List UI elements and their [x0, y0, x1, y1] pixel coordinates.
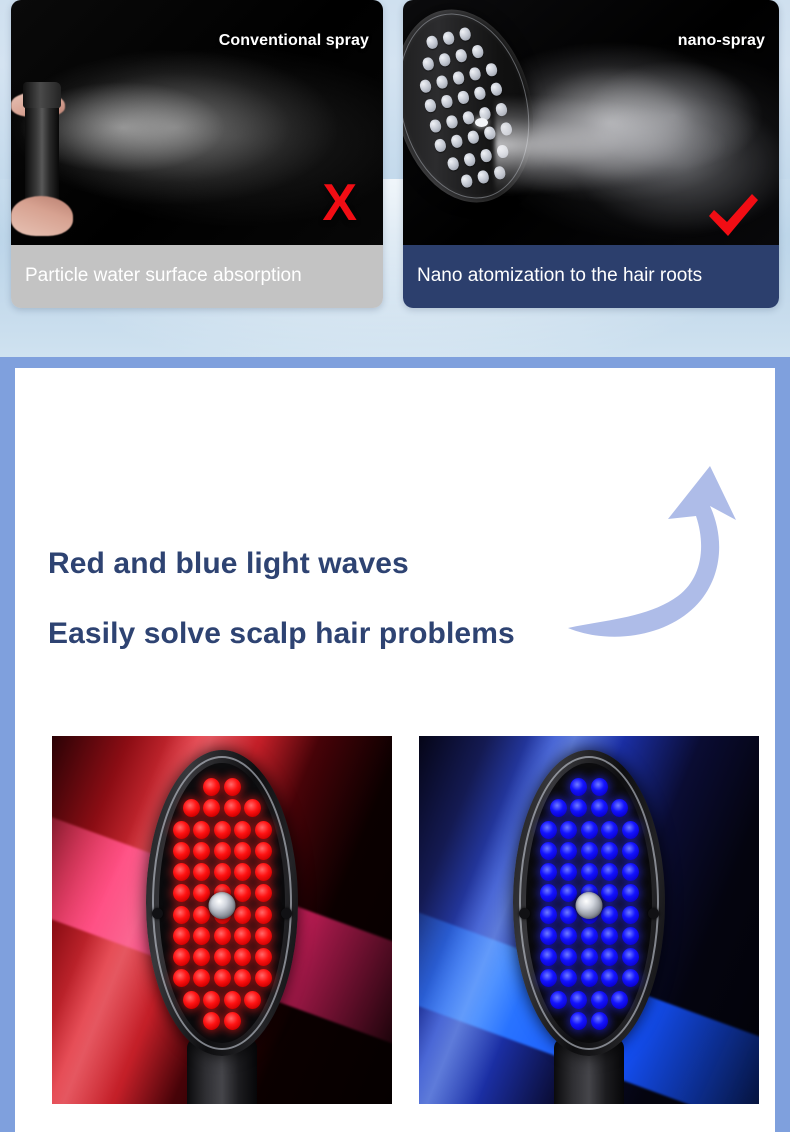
led-dot	[255, 842, 272, 860]
led-dot	[234, 821, 251, 839]
led-dot	[560, 842, 577, 860]
massage-pin	[468, 66, 482, 81]
led-dot	[601, 842, 618, 860]
led-dot	[622, 821, 639, 839]
red-check-icon	[705, 191, 761, 239]
massage-pin	[473, 86, 487, 101]
led-dot	[193, 842, 210, 860]
led-dot	[550, 991, 567, 1009]
led-dot	[255, 821, 272, 839]
led-dot	[601, 948, 618, 966]
led-dot	[214, 842, 231, 860]
led-dot	[560, 927, 577, 945]
led-dot	[601, 884, 618, 902]
led-dot	[540, 863, 557, 881]
led-dot	[234, 969, 251, 987]
led-dot	[244, 991, 261, 1009]
led-dot	[193, 863, 210, 881]
massage-pin	[456, 90, 470, 105]
conventional-spray-caption: Particle water surface absorption	[11, 245, 383, 308]
led-dot	[591, 991, 608, 1009]
massage-pin	[425, 35, 439, 50]
massage-pin	[440, 94, 454, 109]
blue-light-comb-device	[513, 750, 665, 1104]
led-dot	[560, 948, 577, 966]
headline-line-1: Red and blue light waves	[48, 547, 668, 581]
led-dot	[622, 927, 639, 945]
led-dot	[550, 799, 567, 817]
led-dot	[193, 927, 210, 945]
led-dot	[173, 863, 190, 881]
massage-pin	[451, 70, 465, 85]
led-dot	[173, 927, 190, 945]
led-dot	[203, 799, 220, 817]
led-dot	[560, 906, 577, 924]
led-dot	[601, 927, 618, 945]
led-dot	[193, 948, 210, 966]
led-dot	[601, 863, 618, 881]
red-x-icon: X	[322, 177, 357, 229]
led-dot	[540, 927, 557, 945]
massage-pin	[471, 44, 485, 59]
headline-line-2: Easily solve scalp hair problems	[48, 617, 668, 651]
mist-jet	[495, 96, 725, 194]
led-dot	[234, 927, 251, 945]
led-dot	[581, 863, 598, 881]
massage-pin	[466, 130, 480, 145]
massage-pin	[489, 82, 503, 97]
led-dot	[255, 969, 272, 987]
led-dot	[234, 842, 251, 860]
massage-pin	[438, 53, 452, 68]
led-dot	[224, 1012, 241, 1030]
massage-pin	[454, 48, 468, 63]
led-dot	[234, 906, 251, 924]
massage-pin	[421, 57, 435, 72]
massage-pin	[476, 169, 490, 184]
led-dot	[581, 948, 598, 966]
massage-pin	[423, 98, 437, 113]
led-dot	[214, 863, 231, 881]
massage-pin	[449, 134, 463, 149]
led-dot	[591, 799, 608, 817]
led-dot	[234, 948, 251, 966]
led-dot	[173, 884, 190, 902]
fingers-bottom	[11, 196, 73, 236]
led-dot	[214, 948, 231, 966]
led-dot	[214, 821, 231, 839]
feature-card: Red and blue light waves Easily solve sc…	[15, 368, 775, 1132]
led-dot	[255, 948, 272, 966]
led-dot	[255, 863, 272, 881]
led-dot	[193, 821, 210, 839]
led-dot	[560, 863, 577, 881]
center-power-button	[209, 892, 236, 919]
led-dot	[193, 884, 210, 902]
led-dot	[601, 906, 618, 924]
side-nub-left	[152, 908, 163, 919]
conventional-spray-label: Conventional spray	[219, 32, 369, 50]
led-dot	[214, 927, 231, 945]
led-dot	[193, 906, 210, 924]
led-dot	[581, 842, 598, 860]
led-dot	[173, 906, 190, 924]
nano-spray-label: nano-spray	[678, 32, 765, 50]
led-dot	[224, 799, 241, 817]
led-dot	[622, 906, 639, 924]
red-light-comb-photo	[52, 736, 392, 1104]
led-dot	[244, 799, 261, 817]
comparison-panel-conventional: Conventional spray X Particle water surf…	[11, 0, 383, 308]
side-nub-right	[648, 908, 659, 919]
side-nub-right	[281, 908, 292, 919]
led-dot	[622, 842, 639, 860]
red-light-comb-device	[146, 750, 298, 1104]
led-dot	[540, 906, 557, 924]
led-dot	[214, 969, 231, 987]
massage-pin	[463, 152, 477, 167]
led-dot	[203, 778, 220, 796]
massage-pin	[441, 31, 455, 46]
led-dot	[570, 991, 587, 1009]
blue-light-comb-photo	[419, 736, 759, 1104]
massage-pin	[445, 114, 459, 129]
led-dot	[255, 927, 272, 945]
led-dot	[540, 884, 557, 902]
led-dot	[255, 884, 272, 902]
massage-pin	[433, 138, 447, 153]
led-dot	[183, 799, 200, 817]
nano-spray-caption: Nano atomization to the hair roots	[403, 245, 779, 308]
massage-pin	[461, 110, 475, 125]
led-dot	[581, 821, 598, 839]
massage-pin	[435, 74, 449, 89]
led-dot	[622, 969, 639, 987]
led-dot	[540, 969, 557, 987]
product-detail-page: Conventional spray X Particle water surf…	[0, 0, 790, 1132]
product-photo-row	[38, 736, 763, 1104]
led-dot	[173, 948, 190, 966]
led-dot	[193, 969, 210, 987]
conventional-spray-photo: Conventional spray X	[11, 0, 383, 245]
led-dot	[224, 778, 241, 796]
massage-pin	[428, 118, 442, 133]
led-dot	[581, 969, 598, 987]
led-dot	[601, 821, 618, 839]
spray-nozzle	[475, 118, 488, 127]
massage-pin	[479, 148, 493, 163]
center-power-button	[576, 892, 603, 919]
led-dot	[234, 884, 251, 902]
led-dot	[203, 1012, 220, 1030]
led-dot	[570, 1012, 587, 1030]
led-dot	[183, 991, 200, 1009]
massage-pin	[446, 156, 460, 171]
comparison-panel-nano: nano-spray Nano atomization to the hair …	[403, 0, 779, 308]
led-dot	[234, 863, 251, 881]
led-dot	[591, 778, 608, 796]
led-dot	[540, 948, 557, 966]
led-dot	[540, 842, 557, 860]
massage-pin	[418, 79, 432, 94]
led-dot	[611, 799, 628, 817]
led-dot	[570, 799, 587, 817]
massage-pin	[484, 62, 498, 77]
led-dot	[560, 969, 577, 987]
massage-pin	[458, 27, 472, 42]
led-dot	[203, 991, 220, 1009]
led-dot	[173, 969, 190, 987]
led-dot	[581, 927, 598, 945]
spray-comparison-row: Conventional spray X Particle water surf…	[0, 0, 790, 315]
nano-spray-photo: nano-spray	[403, 0, 779, 245]
led-dot	[224, 991, 241, 1009]
led-dot	[560, 821, 577, 839]
led-dot	[255, 906, 272, 924]
led-dot	[622, 884, 639, 902]
led-dot	[173, 842, 190, 860]
led-dot	[591, 1012, 608, 1030]
led-dot	[622, 863, 639, 881]
led-dot	[560, 884, 577, 902]
led-dot	[611, 991, 628, 1009]
side-nub-left	[519, 908, 530, 919]
led-dot	[540, 821, 557, 839]
led-dot	[173, 821, 190, 839]
led-dot	[601, 969, 618, 987]
massage-pin	[459, 174, 473, 189]
led-dot	[570, 778, 587, 796]
feature-headline: Red and blue light waves Easily solve sc…	[48, 547, 668, 651]
led-dot	[622, 948, 639, 966]
